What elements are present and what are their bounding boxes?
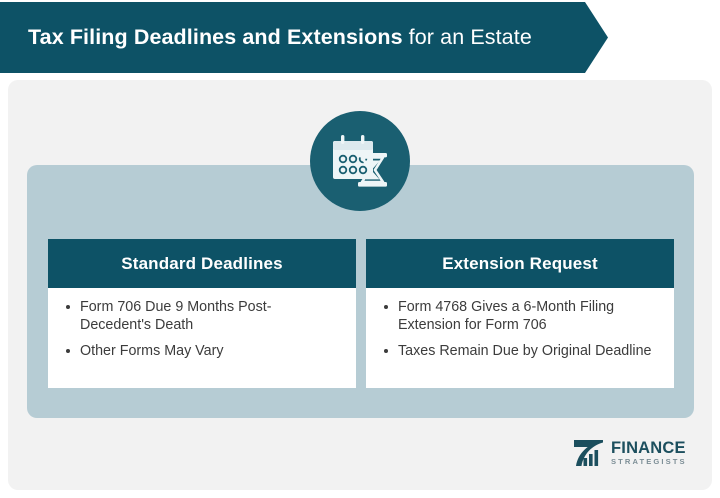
logo-mark-icon [572, 438, 606, 468]
bullet-list-standard-deadlines: Form 706 Due 9 Months Post-Decedent's De… [58, 298, 342, 360]
bullet-dot-icon [66, 305, 70, 309]
card-header-standard-deadlines: Standard Deadlines [48, 239, 356, 288]
list-item: Form 706 Due 9 Months Post-Decedent's De… [58, 298, 342, 334]
calendar-hourglass-icon [310, 111, 410, 211]
card-extension-request: Extension Request Form 4768 Gives a 6-Mo… [366, 239, 674, 388]
list-item: Taxes Remain Due by Original Deadline [376, 342, 660, 360]
card-standard-deadlines: Standard Deadlines Form 706 Due 9 Months… [48, 239, 356, 388]
logo-text: FINANCE STRATEGISTS [611, 440, 687, 466]
list-item-label: Form 4768 Gives a 6-Month Filing Extensi… [398, 299, 614, 333]
bullet-list-extension-request: Form 4768 Gives a 6-Month Filing Extensi… [376, 298, 660, 360]
page-title-light: for an Estate [409, 25, 532, 50]
bullet-dot-icon [384, 305, 388, 309]
card-body-extension-request: Form 4768 Gives a 6-Month Filing Extensi… [366, 288, 674, 370]
infographic-root: Tax Filing Deadlines and Extensions for … [0, 0, 720, 498]
bullet-dot-icon [384, 349, 388, 353]
logo-word-primary: FINANCE [611, 440, 687, 457]
list-item-label: Form 706 Due 9 Months Post-Decedent's De… [80, 299, 272, 333]
title-banner: Tax Filing Deadlines and Extensions for … [0, 2, 608, 73]
list-item: Other Forms May Vary [58, 342, 342, 360]
finance-strategists-logo: FINANCE STRATEGISTS [572, 436, 700, 470]
bullet-dot-icon [66, 349, 70, 353]
card-body-standard-deadlines: Form 706 Due 9 Months Post-Decedent's De… [48, 288, 356, 370]
page-title: Tax Filing Deadlines and Extensions for … [28, 2, 532, 73]
list-item: Form 4768 Gives a 6-Month Filing Extensi… [376, 298, 660, 334]
list-item-label: Other Forms May Vary [80, 343, 224, 359]
list-item-label: Taxes Remain Due by Original Deadline [398, 343, 652, 359]
page-title-bold: Tax Filing Deadlines and Extensions [28, 25, 403, 50]
logo-word-secondary: STRATEGISTS [611, 458, 687, 466]
card-header-extension-request: Extension Request [366, 239, 674, 288]
